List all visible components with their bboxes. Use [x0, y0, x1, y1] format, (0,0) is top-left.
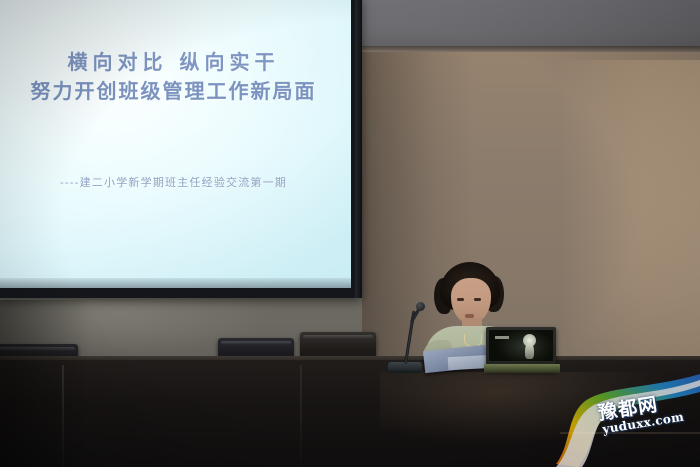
laptop-screen: [489, 330, 553, 361]
slide-subtitle: ----建二小学新学期班主任经验交流第一期: [0, 174, 351, 190]
floor-edge-line: [560, 432, 700, 434]
wall-warm-light: [560, 60, 700, 360]
laptop-keyboard-base: [484, 364, 560, 373]
projection-screen-surface: 横向对比 纵向实干 努力开创班级管理工作新局面 ----建二小学新学期班主任经验…: [0, 0, 351, 288]
slide-title-line-2: 努力开创班级管理工作新局面: [0, 76, 351, 106]
microphone-capsule: [416, 302, 425, 311]
slide-title-line-1: 横向对比 纵向实干: [0, 48, 351, 76]
podium-seam-left: [62, 365, 64, 467]
laptop-screen-icon-body: [525, 344, 534, 359]
screen-bottom-edge: [0, 278, 351, 288]
projection-screen-frame: 横向对比 纵向实干 努力开创班级管理工作新局面 ----建二小学新学期班主任经验…: [0, 0, 362, 298]
presenter-eye-left: [457, 298, 464, 301]
conference-presentation-photo: 横向对比 纵向实干 努力开创班级管理工作新局面 ----建二小学新学期班主任经验…: [0, 0, 700, 467]
slide-title: 横向对比 纵向实干 努力开创班级管理工作新局面: [0, 48, 351, 106]
podium-light-falloff: [380, 372, 700, 467]
presenter-eye-right: [474, 298, 481, 301]
screen-glare: [0, 0, 351, 288]
laptop-screen-label: [495, 336, 509, 339]
podium-seam-center: [300, 365, 302, 467]
